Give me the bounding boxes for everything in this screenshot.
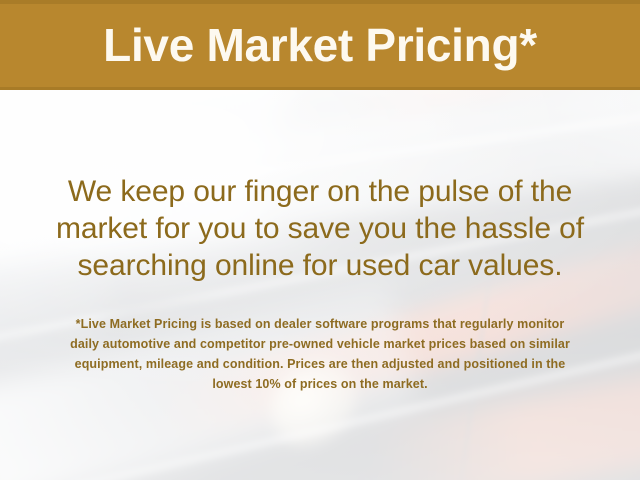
live-market-pricing-banner: Live Market Pricing* We keep our finger … (0, 0, 640, 480)
disclaimer-text: *Live Market Pricing is based on dealer … (0, 314, 640, 394)
page-title: Live Market Pricing* (103, 22, 537, 68)
headline-line-1: We keep our finger on the pulse of the (0, 173, 640, 210)
disclaimer-line-1: *Live Market Pricing is based on dealer … (0, 314, 640, 334)
headline-line-3: searching online for used car values. (0, 247, 640, 284)
headline-line-2: market for you to save you the hassle of (0, 210, 640, 247)
disclaimer-line-3: equipment, mileage and condition. Prices… (0, 354, 640, 374)
header-banner: Live Market Pricing* (0, 0, 640, 90)
disclaimer-line-2: daily automotive and competitor pre-owne… (0, 334, 640, 354)
headline-text: We keep our finger on the pulse of the m… (0, 173, 640, 284)
disclaimer-line-4: lowest 10% of prices on the market. (0, 374, 640, 394)
